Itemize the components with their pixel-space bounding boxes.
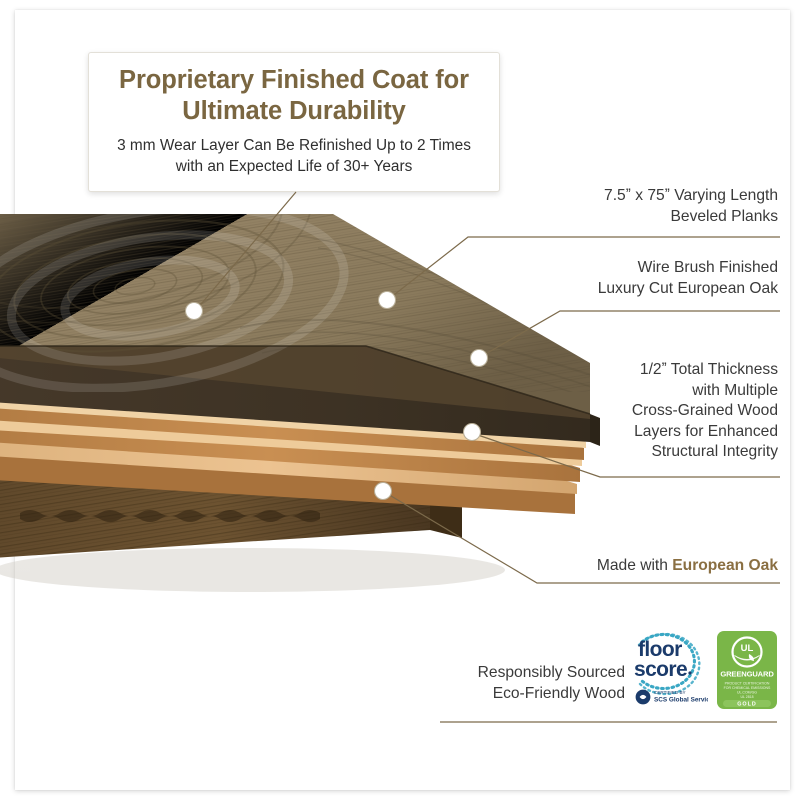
wire-brush-line-2: Luxury Cut European Oak — [598, 279, 778, 300]
thickness-line-2: with Multiple — [632, 381, 778, 402]
floorscore-authority: SCS Global Services — [654, 697, 708, 704]
flooring-plank-illustration — [0, 178, 600, 608]
floorscore-certification-logo: floor score CERTIFIED BY SCS Global Serv… — [630, 628, 708, 710]
material-prefix: Made with — [597, 557, 672, 574]
callout-title: Proprietary Finished Coat for Ultimate D… — [103, 65, 485, 127]
greenguard-fine-4: UL 2818 — [740, 695, 753, 699]
floorscore-certified-by: CERTIFIED BY — [654, 690, 686, 695]
greenguard-brand: GREENGUARD — [720, 670, 774, 679]
greenguard-gold-certification-logo: UL GREENGUARD PRODUCT CERTIFICATION FOR … — [716, 630, 778, 710]
material-text: Made with European Oak — [597, 556, 778, 577]
thickness-line-4: Layers for Enhanced — [632, 422, 778, 443]
greenguard-fine-2: FOR CHEMICAL EMISSIONS — [724, 686, 771, 690]
greenguard-fine-3: UL.COM/GG — [737, 691, 757, 695]
feature-label-material: Made with European Oak — [597, 556, 778, 577]
ul-mark-label: UL — [741, 643, 754, 654]
thickness-line-5: Structural Integrity — [632, 442, 778, 463]
feature-label-wire-brush: Wire Brush Finished Luxury Cut European … — [598, 258, 778, 299]
callout-title-line-1: Proprietary Finished Coat — [119, 66, 428, 94]
callout-subtitle: 3 mm Wear Layer Can Be Refinished Up to … — [103, 136, 485, 177]
plank-size-line-2: Beveled Planks — [604, 207, 778, 228]
eco-line-2: Eco-Friendly Wood — [478, 683, 625, 704]
eco-line-1: Responsibly Sourced — [478, 662, 625, 683]
feature-label-plank-size: 7.5ˮ x 75ˮ Varying Length Beveled Planks — [604, 186, 778, 227]
greenguard-level: GOLD — [737, 701, 757, 707]
thickness-line-3: Cross-Grained Wood — [632, 401, 778, 422]
thickness-line-1: 1/2ˮ Total Thickness — [632, 360, 778, 381]
floorscore-word-score: score — [634, 658, 687, 681]
feature-label-thickness: 1/2ˮ Total Thickness with Multiple Cross… — [632, 360, 778, 463]
infographic-canvas: Proprietary Finished Coat for Ultimate D… — [0, 0, 805, 805]
greenguard-fine-1: PRODUCT CERTIFICATION — [725, 682, 770, 686]
material-highlight: European Oak — [672, 557, 778, 574]
eco-sourcing-text: Responsibly Sourced Eco-Friendly Wood — [478, 662, 625, 704]
callout-sub-line-2: with an Expected Life of 30+ Years — [176, 158, 413, 175]
plank-size-line-1: 7.5ˮ x 75ˮ Varying Length — [604, 186, 778, 207]
callout-sub-line-1: 3 mm Wear Layer Can Be Refinished Up to … — [117, 137, 471, 154]
callout-proprietary-coat: Proprietary Finished Coat for Ultimate D… — [88, 52, 500, 192]
wire-brush-line-1: Wire Brush Finished — [598, 258, 778, 279]
